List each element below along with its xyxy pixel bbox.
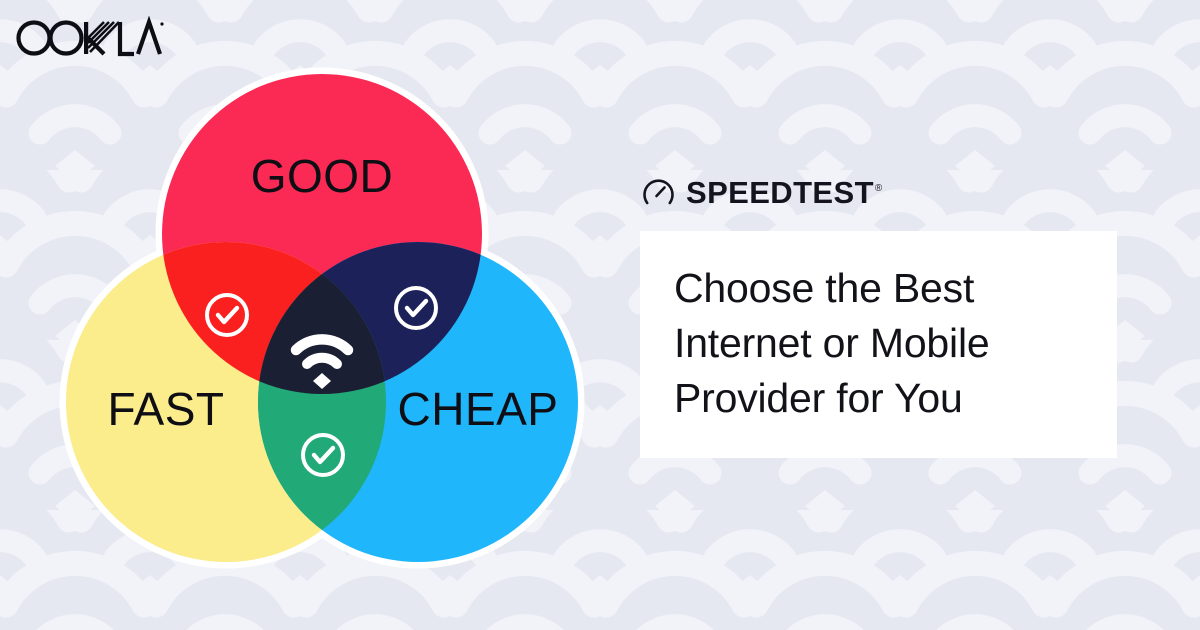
venn-label-cheap: CHEAP [398, 383, 559, 435]
registered-mark-icon [160, 22, 163, 25]
venn-label-fast: FAST [107, 383, 224, 435]
right-content-panel: SPEEDTEST® Choose the Best Internet or M… [640, 172, 1120, 458]
venn-label-good: GOOD [251, 150, 394, 202]
registered-mark-icon: ® [875, 183, 882, 194]
speedtest-wordmark-text: SPEEDTEST [686, 175, 874, 210]
headline-line-2: Internet or Mobile [674, 316, 1083, 371]
speedometer-icon [642, 176, 675, 209]
venn-diagram: GOOD FAST CHEAP [48, 62, 596, 574]
headline-line-1: Choose the Best [674, 261, 1083, 316]
speedtest-wordmark: SPEEDTEST® [686, 177, 882, 208]
speedtest-logo-lockup: SPEEDTEST® [640, 172, 1120, 212]
ookla-logo [14, 16, 164, 60]
promo-graphic: GOOD FAST CHEAP [0, 0, 1200, 630]
headline-card: Choose the Best Internet or Mobile Provi… [640, 231, 1117, 458]
headline-line-3: Provider for You [674, 371, 1083, 426]
